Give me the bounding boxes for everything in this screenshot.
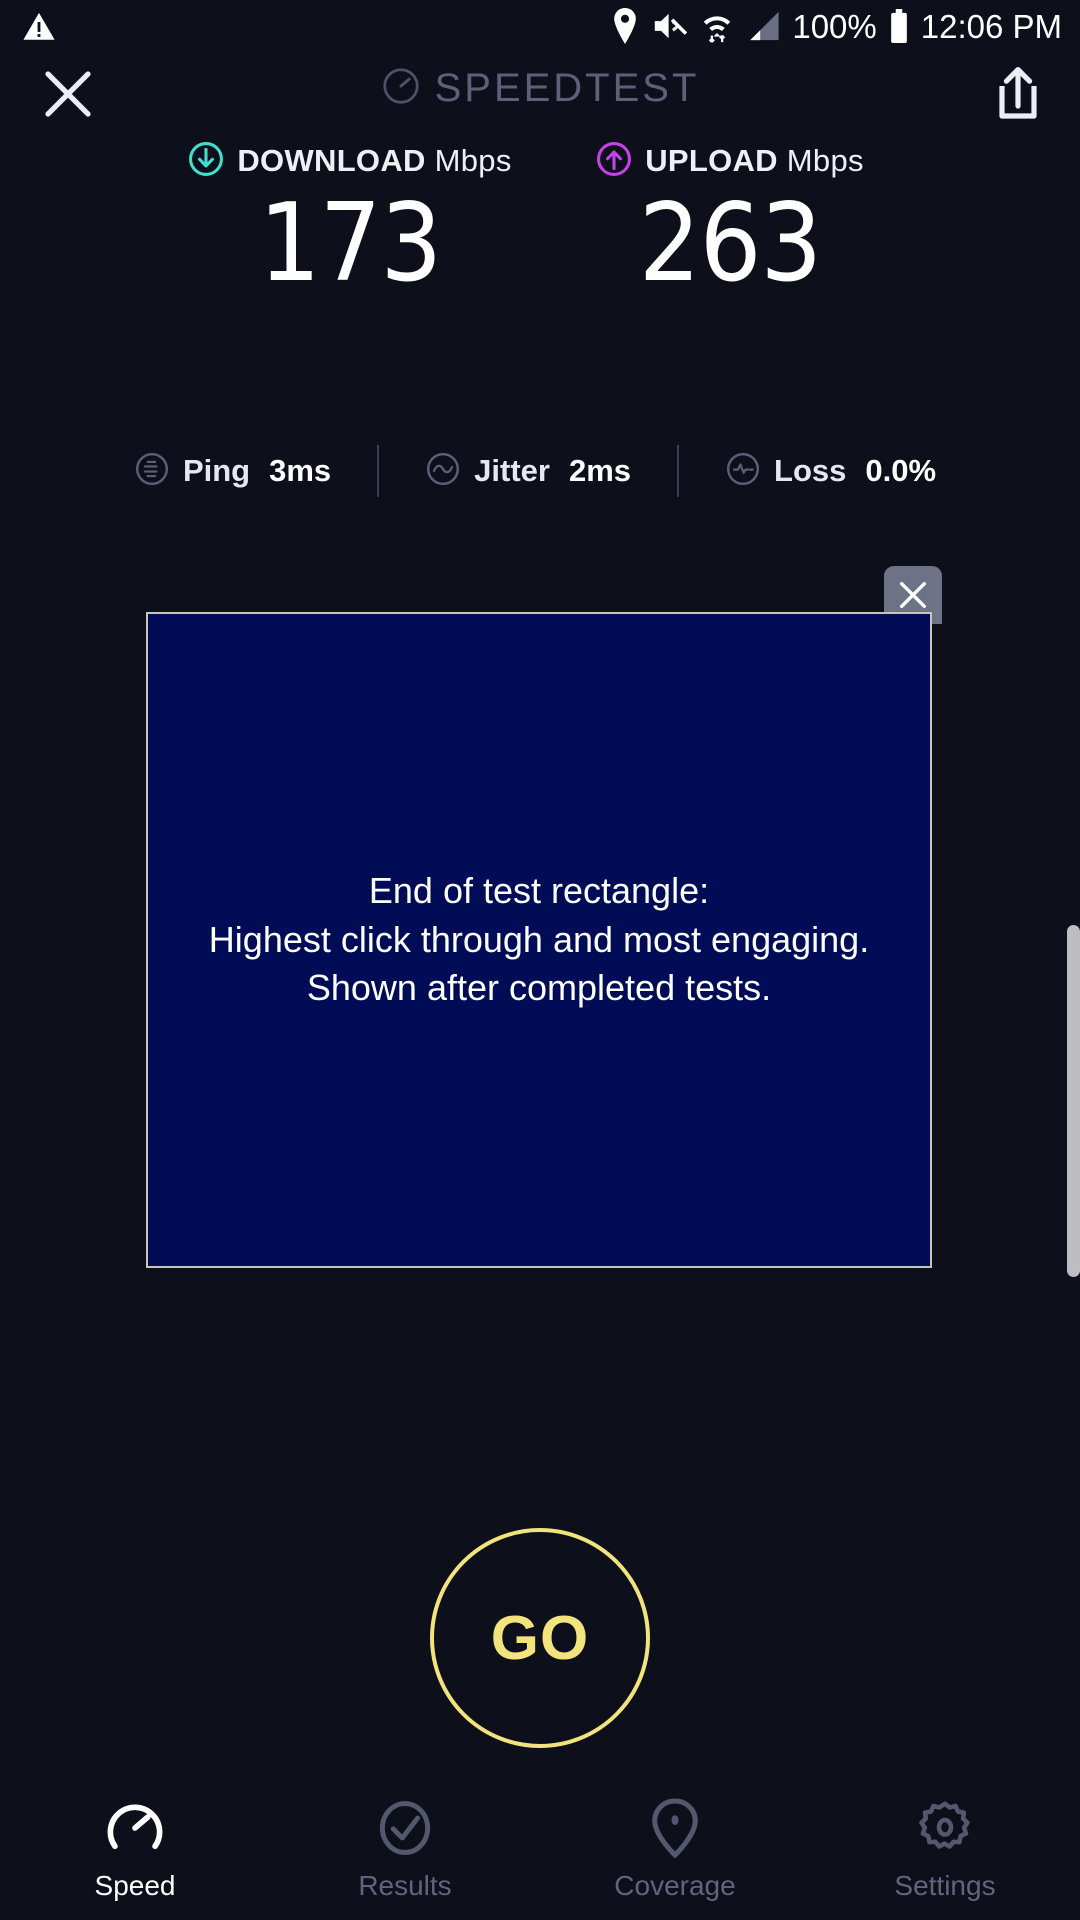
metric-jitter: Jitter 2ms (425, 451, 631, 492)
go-button-label: GO (491, 1603, 589, 1674)
upload-label: UPLOAD Mbps (645, 143, 864, 179)
arrow-down-circle-icon (188, 141, 224, 182)
metrics-row: Ping 3ms Jitter 2ms (0, 445, 1080, 497)
metric-ping: Ping 3ms (134, 451, 331, 492)
warning-triangle-icon (22, 10, 56, 44)
advertisement-banner[interactable]: End of test rectangle: Highest click thr… (146, 612, 932, 1268)
gear-icon (916, 1796, 974, 1860)
ad-line-3: Shown after completed tests. (154, 964, 924, 1013)
metric-loss: Loss 0.0% (725, 451, 936, 492)
nav-label-settings: Settings (894, 1870, 995, 1902)
brand: SPEEDTEST (0, 66, 1080, 111)
download-result: DOWNLOAD Mbps 173 (160, 140, 540, 298)
clock-label: 12:06 PM (921, 10, 1062, 43)
metric-jitter-label: Jitter (474, 453, 550, 489)
battery-percent-label: 100% (792, 10, 876, 43)
ad-line-2: Highest click through and most engaging. (154, 916, 924, 965)
share-icon[interactable] (990, 64, 1050, 126)
metric-ping-value: 3ms (269, 453, 331, 489)
check-circle-icon (376, 1796, 434, 1860)
upload-label-main: UPLOAD (645, 143, 778, 178)
close-icon (896, 578, 930, 612)
app-header: SPEEDTEST (0, 60, 1080, 130)
wifi-icon (700, 8, 734, 44)
metric-jitter-value: 2ms (569, 453, 631, 489)
speedometer-icon (104, 1796, 166, 1860)
battery-full-icon (889, 9, 909, 43)
upload-value: 263 (540, 190, 920, 298)
page-title: SPEEDTEST (435, 66, 700, 111)
download-value: 173 (160, 190, 540, 298)
nav-item-coverage[interactable]: Coverage (540, 1784, 810, 1920)
bottom-navigation: Speed Results Coverage (0, 1784, 1080, 1920)
download-label-main: DOWNLOAD (237, 143, 425, 178)
cellular-signal-icon (746, 10, 780, 42)
download-label-unit: Mbps (435, 143, 512, 178)
go-button[interactable]: GO (430, 1528, 650, 1748)
ping-icon (134, 451, 170, 492)
speedometer-icon (381, 66, 421, 111)
ad-line-1: End of test rectangle: (154, 867, 924, 916)
nav-item-results[interactable]: Results (270, 1784, 540, 1920)
location-pin-icon (610, 8, 640, 44)
metric-divider (677, 445, 679, 497)
volume-muted-icon (652, 9, 688, 43)
ad-text: End of test rectangle: Highest click thr… (148, 867, 930, 1014)
nav-label-coverage: Coverage (614, 1870, 735, 1902)
arrow-up-circle-icon (596, 141, 632, 182)
upload-result: UPLOAD Mbps 263 (540, 140, 920, 298)
loss-icon (725, 451, 761, 492)
nav-item-settings[interactable]: Settings (810, 1784, 1080, 1920)
nav-label-results: Results (358, 1870, 451, 1902)
status-icons: 100% 12:06 PM (610, 8, 1062, 44)
upload-label-unit: Mbps (787, 143, 864, 178)
download-label: DOWNLOAD Mbps (237, 143, 511, 179)
speedtest-app: 100% 12:06 PM SPEEDTEST (0, 0, 1080, 1920)
metric-ping-label: Ping (183, 453, 250, 489)
scrollbar[interactable] (1067, 925, 1080, 1277)
status-bar: 100% 12:06 PM (0, 0, 1080, 54)
results-panel: DOWNLOAD Mbps 173 UP (0, 140, 1080, 298)
metric-loss-value: 0.0% (865, 453, 936, 489)
jitter-icon (425, 451, 461, 492)
nav-label-speed: Speed (95, 1870, 176, 1902)
metric-loss-label: Loss (774, 453, 846, 489)
map-pin-icon (648, 1796, 702, 1860)
nav-item-speed[interactable]: Speed (0, 1784, 270, 1920)
metric-divider (377, 445, 379, 497)
